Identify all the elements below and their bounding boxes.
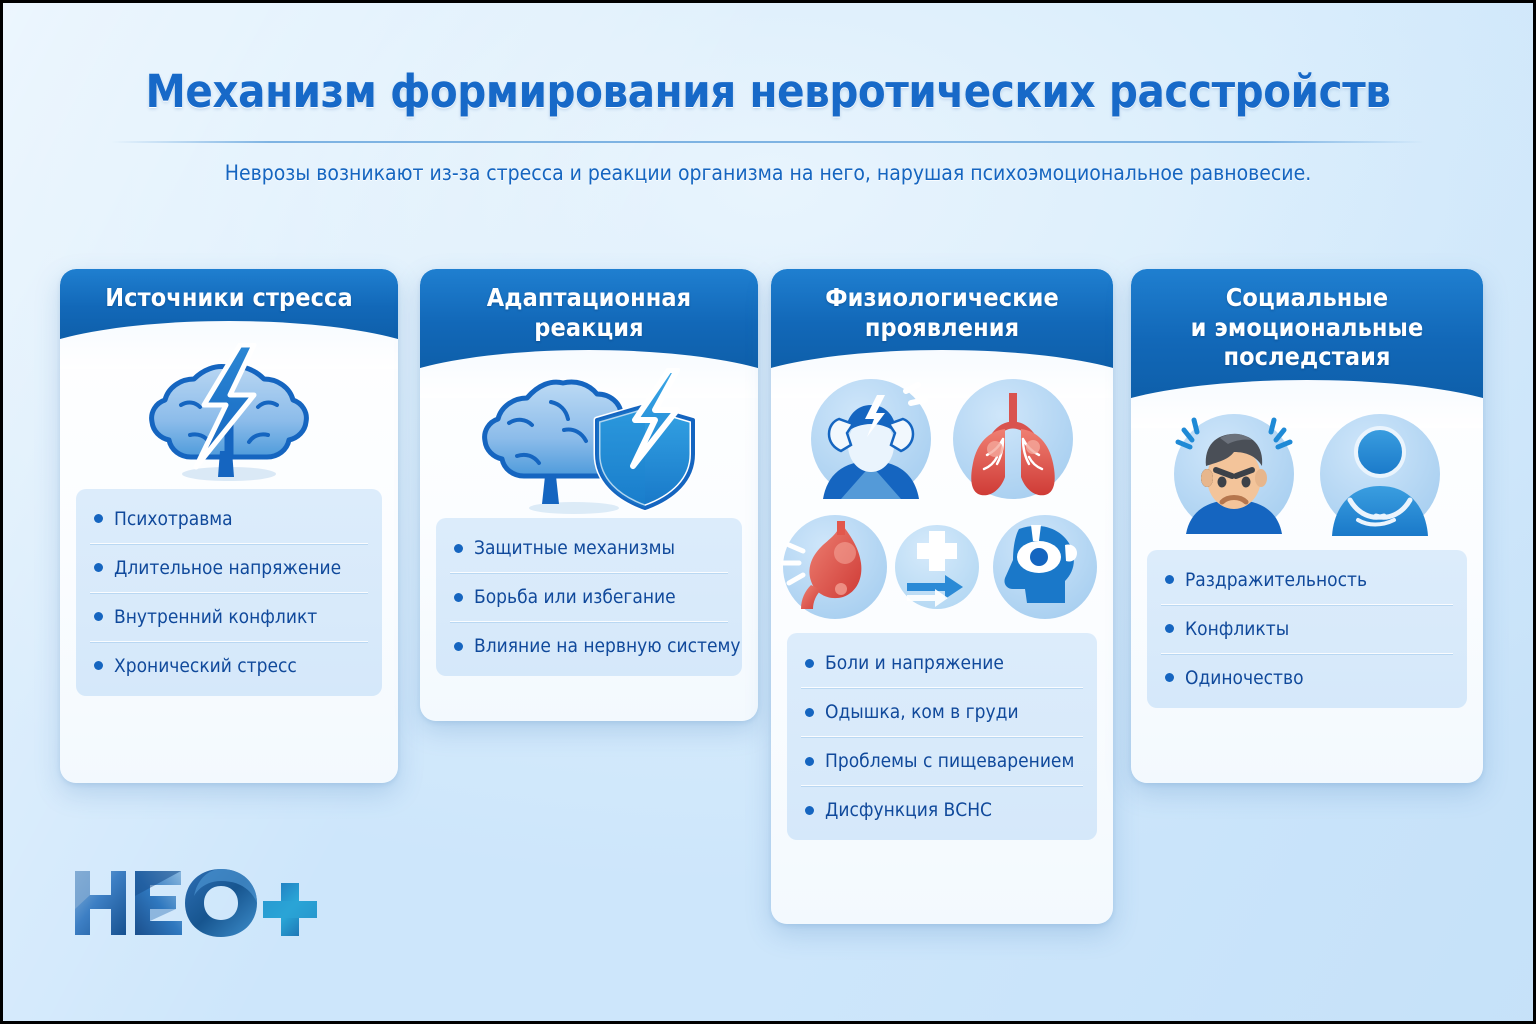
list-item-label: Проблемы с пищеварением bbox=[825, 750, 1074, 772]
card-3-title-line-1: Физиологические bbox=[825, 283, 1059, 312]
card-3-list: Боли и напряжение Одышка, ком в груди Пр… bbox=[787, 633, 1097, 840]
list-item[interactable]: Одиночество bbox=[1161, 654, 1453, 702]
card-4-title-line-3: последстаия bbox=[1223, 342, 1390, 371]
bullet-icon bbox=[1165, 575, 1174, 584]
bullet-icon bbox=[94, 661, 103, 670]
card-adaptive-response: Адаптационная реакция bbox=[420, 269, 758, 721]
list-item[interactable]: Конфликты bbox=[1161, 605, 1453, 654]
list-item-label: Психотравма bbox=[114, 508, 233, 530]
list-item[interactable]: Защитные механизмы bbox=[450, 524, 728, 573]
infographic-canvas: Механизм формирования невротических расс… bbox=[3, 3, 1533, 1021]
bullet-icon bbox=[805, 708, 814, 717]
list-item[interactable]: Раздражительность bbox=[1161, 556, 1453, 605]
card-4-icon-area bbox=[1131, 398, 1483, 550]
card-2-header: Адаптационная реакция bbox=[420, 269, 758, 368]
bullet-icon bbox=[805, 757, 814, 766]
list-item-label: Боли и напряжение bbox=[825, 652, 1004, 674]
card-4-list: Раздражительность Конфликты Одиночество bbox=[1147, 550, 1467, 708]
list-item-label: Одышка, ком в груди bbox=[825, 701, 1019, 723]
list-item-label: Хронический стресс bbox=[114, 655, 297, 677]
list-item-label: Внутренний конфликт bbox=[114, 606, 317, 628]
card-1-header: Источники стресса bbox=[60, 269, 398, 339]
list-item[interactable]: Внутренний конфликт bbox=[90, 593, 368, 642]
bullet-icon bbox=[454, 544, 463, 553]
card-4-icon-row bbox=[1168, 408, 1446, 540]
bullet-icon bbox=[454, 593, 463, 602]
card-1-list: Психотравма Длительное напряжение Внутре… bbox=[76, 489, 382, 696]
card-sources-of-stress: Источники стресса bbox=[60, 269, 398, 783]
card-3-title-line-2: проявления bbox=[865, 313, 1019, 342]
bullet-icon bbox=[805, 806, 814, 815]
card-3-header: Физиологические проявления bbox=[771, 269, 1113, 368]
list-item[interactable]: Хронический стресс bbox=[90, 642, 368, 690]
bullet-icon bbox=[94, 514, 103, 523]
neo-plus-logo-icon bbox=[71, 865, 326, 941]
list-item-label: Раздражительность bbox=[1185, 569, 1367, 591]
list-item[interactable]: Борьба или избегание bbox=[450, 573, 728, 622]
cross-arrow-icon bbox=[895, 509, 979, 629]
list-item-label: Конфликты bbox=[1185, 618, 1289, 640]
bullet-icon bbox=[1165, 673, 1174, 682]
card-2-list: Защитные механизмы Борьба или избегание … bbox=[436, 518, 742, 676]
list-item-label: Защитные механизмы bbox=[474, 537, 675, 559]
bullet-icon bbox=[94, 563, 103, 572]
list-item-label: Влияние на нервную систему bbox=[474, 635, 740, 657]
brain-shield-lightning-icon bbox=[469, 368, 709, 518]
list-item[interactable]: Проблемы с пищеварением bbox=[801, 737, 1083, 786]
list-item[interactable]: Одышка, ком в груди bbox=[801, 688, 1083, 737]
card-physiological-manifestations: Физиологические проявления bbox=[771, 269, 1113, 924]
list-item[interactable]: Длительное напряжение bbox=[90, 544, 368, 593]
angry-face-icon bbox=[1168, 408, 1300, 540]
lungs-icon bbox=[945, 373, 1081, 505]
card-4-header: Социальные и эмоциональные последстаия bbox=[1131, 269, 1483, 398]
list-item[interactable]: Влияние на нервную систему bbox=[450, 622, 728, 670]
card-social-emotional-consequences: Социальные и эмоциональные последстаия bbox=[1131, 269, 1483, 783]
card-3-icon-row-1 bbox=[803, 373, 1081, 505]
bullet-icon bbox=[94, 612, 103, 621]
list-item-label: Дисфункция ВСНС bbox=[825, 799, 992, 821]
card-4-title-line-1: Социальные bbox=[1226, 283, 1388, 312]
list-item[interactable]: Дисфункция ВСНС bbox=[801, 786, 1083, 834]
page-title: Механизм формирования невротических расс… bbox=[3, 65, 1533, 118]
card-2-icon-area bbox=[420, 368, 758, 518]
lonely-person-icon bbox=[1314, 408, 1446, 540]
list-item[interactable]: Психотравма bbox=[90, 495, 368, 544]
card-1-icon-area bbox=[60, 339, 398, 489]
stomach-icon bbox=[779, 509, 889, 629]
card-3-icon-row-2 bbox=[779, 509, 1105, 629]
brain-lightning-icon bbox=[134, 343, 324, 485]
head-eye-icon bbox=[985, 509, 1105, 629]
bullet-icon bbox=[805, 659, 814, 668]
list-item-label: Одиночество bbox=[1185, 667, 1304, 689]
card-3-icon-area bbox=[771, 368, 1113, 633]
page-subtitle: Неврозы возникают из-за стресса и реакци… bbox=[3, 161, 1533, 185]
bullet-icon bbox=[1165, 624, 1174, 633]
headache-person-icon bbox=[803, 373, 939, 505]
brand-logo[interactable] bbox=[71, 865, 326, 941]
list-item-label: Борьба или избегание bbox=[474, 586, 676, 608]
bullet-icon bbox=[454, 642, 463, 651]
list-item[interactable]: Боли и напряжение bbox=[801, 639, 1083, 688]
card-4-title-line-2: и эмоциональные bbox=[1191, 313, 1424, 342]
title-divider bbox=[111, 141, 1425, 143]
list-item-label: Длительное напряжение bbox=[114, 557, 341, 579]
